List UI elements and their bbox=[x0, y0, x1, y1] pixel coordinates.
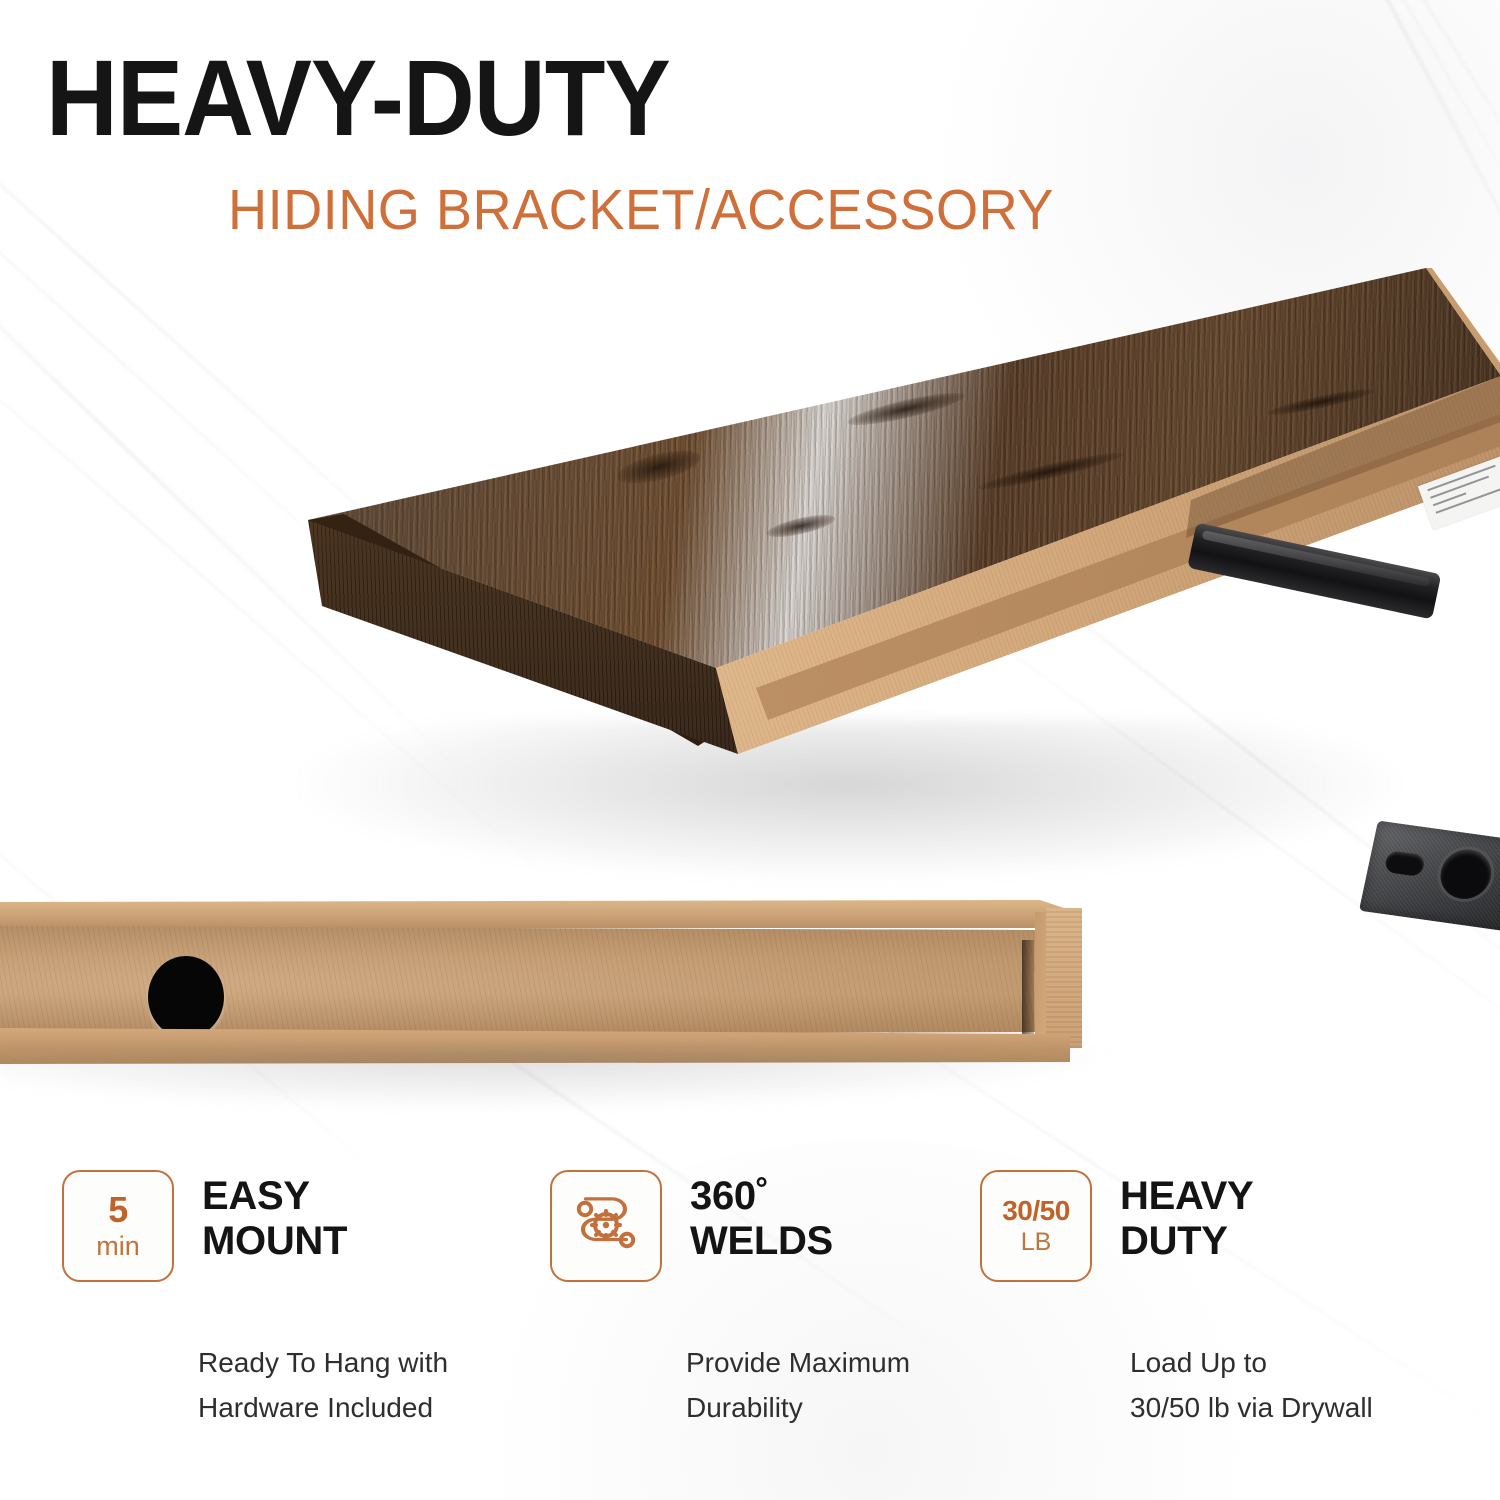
floating-shelf bbox=[286, 268, 1500, 788]
feature-desc-line1: Ready To Hang with bbox=[198, 1340, 490, 1385]
channel-end-shadow bbox=[1022, 940, 1034, 1036]
feature-row: 5 min EASY MOUNT Ready To Hang with Hard… bbox=[0, 1170, 1500, 1470]
feature-title: 360˚ WELDS bbox=[690, 1170, 833, 1264]
page-title: HEAVY-DUTY bbox=[46, 44, 670, 152]
feature-desc-line2: Hardware Included bbox=[198, 1385, 490, 1430]
page-subtitle: HIDING BRACKET/ACCESSORY bbox=[228, 182, 1054, 239]
clock-5-min-icon: 5 min bbox=[62, 1170, 174, 1282]
product-marketing-image: HEAVY-DUTY HIDING BRACKET/ACCESSORY bbox=[0, 0, 1500, 1500]
feature-title-line2: MOUNT bbox=[202, 1219, 347, 1264]
feature-desc-line2: 30/50 lb via Drywall bbox=[1130, 1385, 1420, 1430]
weld-path-gear-icon bbox=[550, 1170, 662, 1282]
feature-easy-mount: 5 min EASY MOUNT Ready To Hang with Hard… bbox=[0, 1170, 490, 1470]
bracket-mounting-hole bbox=[148, 956, 224, 1038]
badge-value: 30/50 bbox=[1002, 1197, 1070, 1225]
feature-description: Provide Maximum Durability bbox=[686, 1340, 960, 1431]
background-streak bbox=[1174, 0, 1500, 279]
feature-desc-line1: Provide Maximum bbox=[686, 1340, 960, 1385]
channel-top-rail bbox=[0, 900, 1110, 928]
feature-heavy-duty: 30/50 LB HEAVY DUTY Load Up to 30/50 lb … bbox=[960, 1170, 1420, 1470]
background-streak bbox=[1110, 0, 1500, 264]
feature-header: 360˚ WELDS bbox=[550, 1170, 960, 1282]
feature-title-line1: EASY bbox=[202, 1174, 347, 1219]
feature-description: Load Up to 30/50 lb via Drywall bbox=[1130, 1340, 1420, 1431]
feature-desc-line1: Load Up to bbox=[1130, 1340, 1420, 1385]
badge-unit: min bbox=[96, 1233, 140, 1260]
badge-value: 5 bbox=[108, 1192, 128, 1228]
channel-end-cap bbox=[1046, 908, 1082, 1048]
feature-title: EASY MOUNT bbox=[202, 1170, 347, 1264]
badge-unit: LB bbox=[1021, 1230, 1052, 1255]
feature-title-line2: WELDS bbox=[690, 1219, 833, 1264]
feature-header: 30/50 LB HEAVY DUTY bbox=[980, 1170, 1420, 1282]
feature-title: HEAVY DUTY bbox=[1120, 1170, 1253, 1264]
weight-capacity-icon: 30/50 LB bbox=[980, 1170, 1092, 1282]
hero-product-photo bbox=[0, 250, 1500, 870]
channel-shadow bbox=[0, 1050, 1110, 1110]
mdf-channel-cross-section-photo bbox=[0, 900, 1110, 1080]
feature-title-line1: 360˚ bbox=[690, 1174, 833, 1219]
feature-title-line2: DUTY bbox=[1120, 1219, 1253, 1264]
feature-desc-line2: Durability bbox=[686, 1385, 960, 1430]
feature-title-line1: HEAVY bbox=[1120, 1174, 1253, 1219]
feature-description: Ready To Hang with Hardware Included bbox=[198, 1340, 490, 1431]
feature-360-welds: 360˚ WELDS Provide Maximum Durability bbox=[490, 1170, 960, 1470]
feature-header: 5 min EASY MOUNT bbox=[62, 1170, 490, 1282]
bracket-mounting-plate bbox=[1359, 821, 1500, 932]
